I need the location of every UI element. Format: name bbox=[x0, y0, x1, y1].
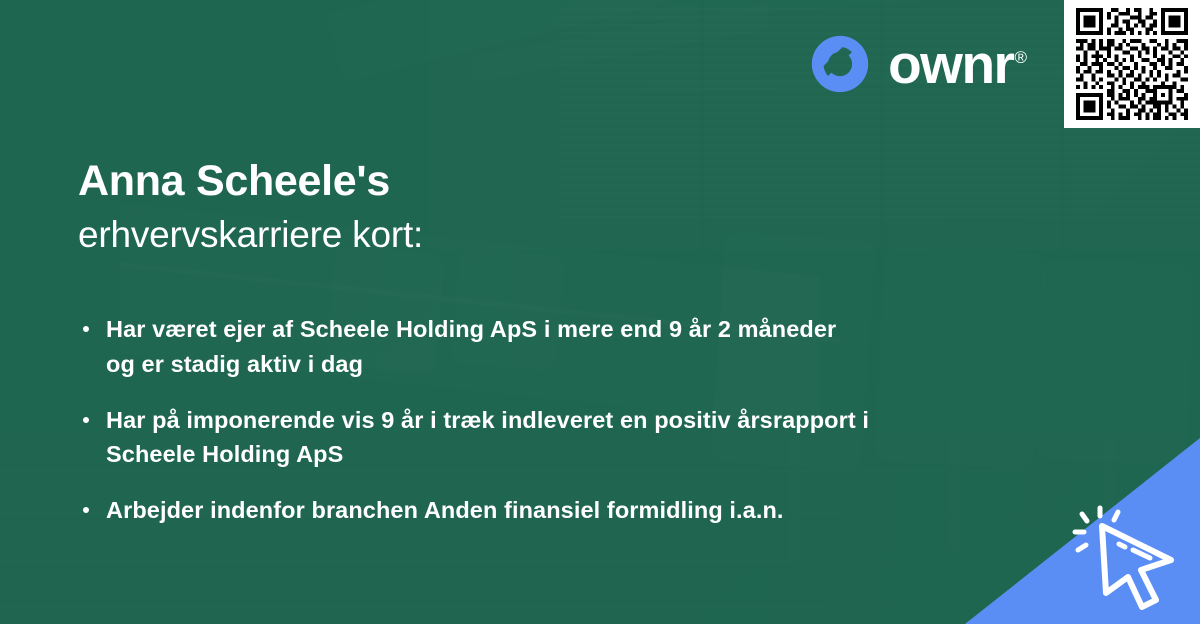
title-subtitle: erhvervskarriere kort: bbox=[78, 212, 898, 257]
list-item: Har været ejer af Scheele Holding ApS i … bbox=[80, 312, 870, 382]
ownr-logo: ownr® bbox=[809, 33, 1027, 95]
career-highlights-list: Har været ejer af Scheele Holding ApS i … bbox=[80, 312, 870, 549]
registered-trademark-icon: ® bbox=[1014, 48, 1027, 67]
list-item: Arbejder indenfor branchen Anden finansi… bbox=[80, 493, 870, 528]
page-title: Anna Scheele's erhvervskarriere kort: bbox=[78, 157, 898, 258]
list-item: Har på imponerende vis 9 år i træk indle… bbox=[80, 403, 870, 473]
ownr-swirl-logo-icon bbox=[809, 33, 871, 95]
title-person-name: Anna Scheele's bbox=[78, 157, 898, 206]
business-card-graphic: ownr® bbox=[0, 0, 1200, 624]
qr-code-panel[interactable] bbox=[1064, 0, 1200, 128]
click-cursor-icon bbox=[1072, 500, 1192, 620]
brand-wordmark: ownr® bbox=[888, 37, 1027, 92]
brand-name-text: ownr bbox=[888, 33, 1013, 95]
qr-code-icon[interactable] bbox=[1076, 8, 1188, 120]
